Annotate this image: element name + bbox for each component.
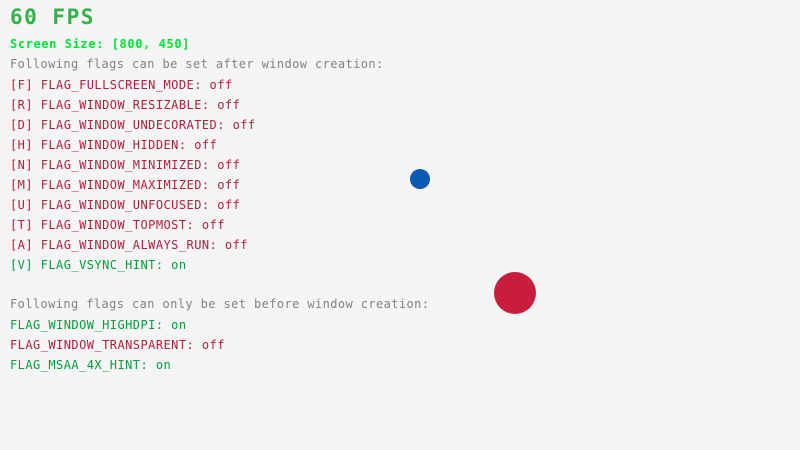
flag-row-window-highdpi: FLAG_WINDOW_HIGHDPI: on — [10, 319, 187, 331]
flag-row-window-unfocused[interactable]: [U] FLAG_WINDOW_UNFOCUSED: off — [10, 199, 240, 211]
flag-row-window-maximized[interactable]: [M] FLAG_WINDOW_MAXIMIZED: off — [10, 179, 240, 191]
flag-row-window-resizable[interactable]: [R] FLAG_WINDOW_RESIZABLE: off — [10, 99, 240, 111]
flag-row-vsync-hint[interactable]: [V] FLAG_VSYNC_HINT: on — [10, 259, 187, 271]
app-window: 60 FPS Screen Size: [800, 450] Following… — [0, 0, 800, 450]
flag-row-window-hidden[interactable]: [H] FLAG_WINDOW_HIDDEN: off — [10, 139, 217, 151]
screen-size-label: Screen Size: [800, 450] — [10, 38, 190, 50]
flag-row-window-minimized[interactable]: [N] FLAG_WINDOW_MINIMIZED: off — [10, 159, 240, 171]
flag-row-window-undecorated[interactable]: [D] FLAG_WINDOW_UNDECORATED: off — [10, 119, 256, 131]
red-ball — [494, 272, 536, 314]
before-creation-note: Following flags can only be set before w… — [10, 298, 429, 310]
flag-row-fullscreen-mode[interactable]: [F] FLAG_FULLSCREEN_MODE: off — [10, 79, 233, 91]
flag-row-window-topmost[interactable]: [T] FLAG_WINDOW_TOPMOST: off — [10, 219, 225, 231]
flag-row-msaa-4x-hint: FLAG_MSAA_4X_HINT: on — [10, 359, 171, 371]
flag-row-window-always-run[interactable]: [A] FLAG_WINDOW_ALWAYS_RUN: off — [10, 239, 248, 251]
flag-row-window-transparent: FLAG_WINDOW_TRANSPARENT: off — [10, 339, 225, 351]
blue-ball — [410, 169, 430, 189]
fps-counter: 60 FPS — [10, 7, 95, 28]
after-creation-note: Following flags can be set after window … — [10, 58, 384, 70]
